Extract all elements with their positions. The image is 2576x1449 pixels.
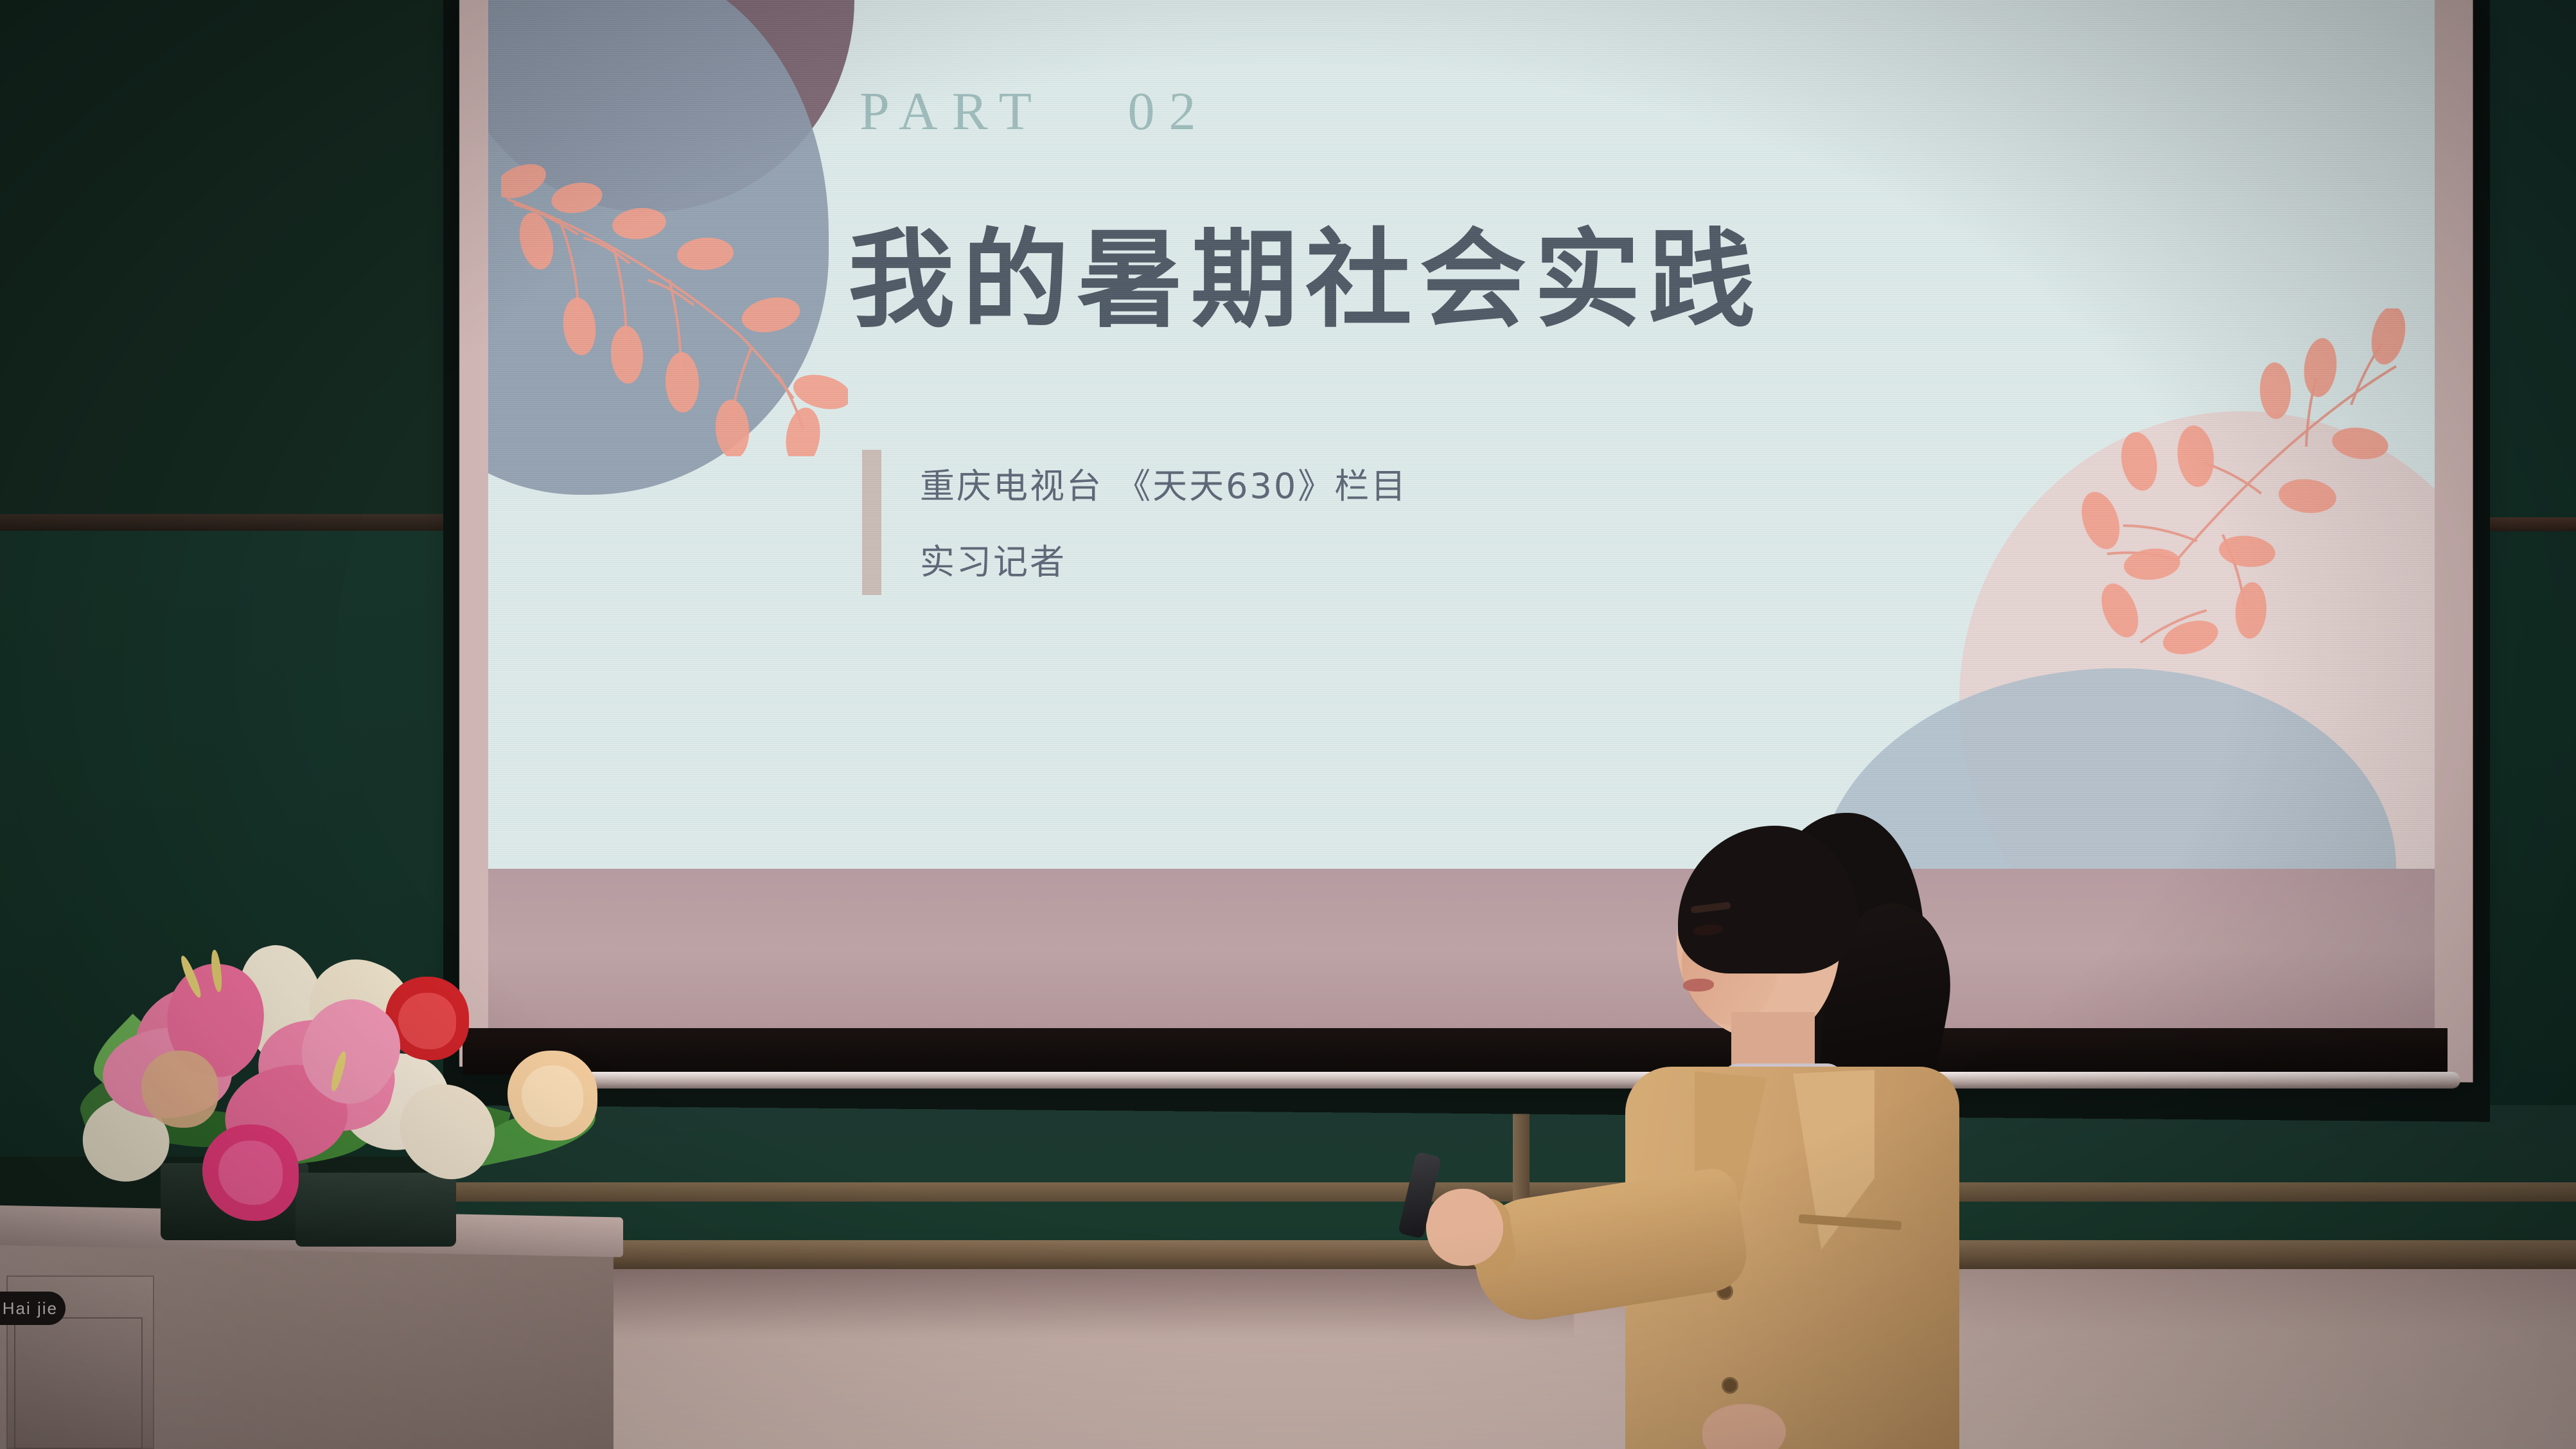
podium-brand-badge: Hai jie	[0, 1292, 66, 1325]
slide-title: 我的暑期社会实践	[848, 193, 1763, 348]
screen-blank-band	[488, 869, 2435, 1031]
chalkboard-upper-frame-rail	[424, 1182, 2576, 1202]
screen-bottom-bar	[463, 1028, 2448, 1074]
leaf-branch-icon	[501, 122, 848, 456]
presenter: EA	[1529, 806, 2107, 1449]
presentation-slide: PART 02 我的暑期社会实践 重庆电视台 《天天630》栏目 实习记者	[488, 0, 2435, 874]
screen-roller-bar	[552, 1072, 2460, 1089]
presenter-lips	[1683, 979, 1714, 991]
podium-badge-label: Hai jie	[3, 1299, 58, 1319]
subtitle-accent-bar	[862, 450, 881, 595]
leaf-branch-icon	[2062, 308, 2422, 668]
presentation-photo-scene: PART 02 我的暑期社会实践 重庆电视台 《天天630》栏目 实习记者 Ha…	[0, 0, 2576, 1449]
wall-shadow	[610, 1269, 1574, 1340]
presenter-blazer-button	[1722, 1377, 1738, 1394]
flower-bouquet	[64, 938, 623, 1195]
chalk-rail-left	[0, 514, 507, 531]
slide-subtitle-line-1: 重庆电视台 《天天630》栏目	[920, 458, 1407, 508]
podium-panel-inset	[14, 1317, 143, 1449]
slide-subtitle-line-2: 实习记者	[920, 533, 1066, 584]
slide-part-label: PART 02	[860, 80, 1210, 143]
presenter-left-hand	[1426, 1189, 1503, 1266]
